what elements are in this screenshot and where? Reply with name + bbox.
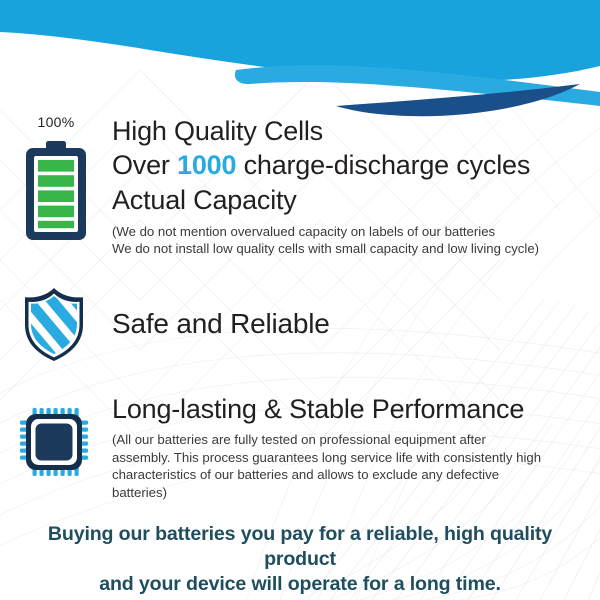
battery-percent-label: 100% <box>18 114 94 130</box>
cpu-chip-icon <box>18 406 90 478</box>
chip-subtext-line-2: assembly. This process guarantees long s… <box>112 449 582 466</box>
infographic-page: 100% High Quality <box>0 0 600 600</box>
chip-subtext-line-1: (All our batteries are fully tested on p… <box>112 431 582 448</box>
chip-subtext-line-4: batteries) <box>112 484 582 501</box>
chip-icon-column <box>18 392 100 478</box>
bottom-tagline: Buying our batteries you pay for a relia… <box>14 522 586 597</box>
feature-safe-and-reliable: Safe and Reliable <box>18 286 584 362</box>
heading-suffix: charge-discharge cycles <box>236 150 530 180</box>
feature-heading-safe-reliable: Safe and Reliable <box>112 306 584 342</box>
feature-heading-line-3: Actual Capacity <box>112 183 584 217</box>
feature-long-lasting-performance: Long-lasting & Stable Performance (All o… <box>18 392 584 501</box>
cycles-count-highlight: 1000 <box>177 150 236 180</box>
battery-subtext-line-2: We do not install low quality cells with… <box>112 240 584 257</box>
battery-subtext-line-1: (We do not mention overvalued capacity o… <box>112 223 584 240</box>
feature-heading-line-1: High Quality Cells <box>112 114 584 148</box>
shield-icon-column <box>18 286 100 362</box>
feature-high-quality-cells: 100% High Quality <box>18 114 584 258</box>
shield-text-column: Safe and Reliable <box>100 306 584 342</box>
shield-icon <box>18 286 90 362</box>
battery-text-column: High Quality Cells Over 1000 charge-disc… <box>100 114 584 258</box>
chip-subtext: (All our batteries are fully tested on p… <box>112 431 582 501</box>
chip-subtext-line-3: characteristics of our batteries and all… <box>112 466 582 483</box>
chip-text-column: Long-lasting & Stable Performance (All o… <box>100 392 584 501</box>
tagline-line-1: Buying our batteries you pay for a relia… <box>14 522 586 572</box>
battery-subtext: (We do not mention overvalued capacity o… <box>112 223 584 258</box>
battery-icon-column: 100% <box>18 114 100 243</box>
battery-full-icon <box>18 139 94 243</box>
feature-heading-long-lasting: Long-lasting & Stable Performance <box>112 392 584 426</box>
heading-prefix: Over <box>112 150 177 180</box>
chip-core <box>36 424 73 461</box>
feature-heading-line-2: Over 1000 charge-discharge cycles <box>112 148 584 182</box>
tagline-line-2: and your device will operate for a long … <box>14 572 586 597</box>
